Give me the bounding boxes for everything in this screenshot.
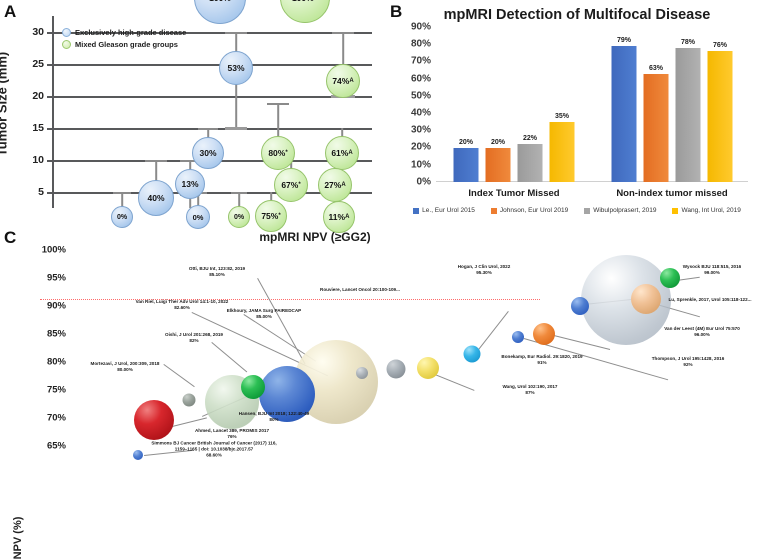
bubble-superscript: A xyxy=(349,78,353,84)
bubble-elkhoury xyxy=(387,360,406,379)
panel-a-tick xyxy=(47,32,53,34)
legend-swatch-green-icon xyxy=(62,40,71,49)
bar-nonindex-wibulpolprasert: 78% xyxy=(676,48,701,182)
study-value: 92% xyxy=(683,362,692,367)
legend-swatch-blue-icon xyxy=(62,28,71,37)
panel-a-bubble: 0% xyxy=(111,206,133,228)
panel-a-y-axis-title: Tumor Size (mm) xyxy=(0,52,10,157)
panel-b-group-label-index: Index Tumor Missed xyxy=(468,188,559,199)
panel-b-y-tick-label: 40% xyxy=(411,108,431,119)
panel-a-tick xyxy=(47,128,53,130)
bar-nonindex-le: 79% xyxy=(612,46,637,182)
panel-b-bar-chart: B mpMRI Detection of Multifocal Disease … xyxy=(386,0,768,226)
panel-c-letter: C xyxy=(4,228,16,248)
panel-a-letter: A xyxy=(4,2,16,22)
bubble-label: 11% xyxy=(329,212,346,222)
panel-a-whisker-cap xyxy=(198,128,218,130)
panel-b-baseline xyxy=(436,181,748,182)
panel-a-bubble: 53% xyxy=(219,51,253,85)
leader-line xyxy=(211,342,247,372)
legend-label: Exclusively high-grade disease xyxy=(75,28,186,37)
legend-label: Mixed Gleason grade groups xyxy=(75,40,178,49)
legend-swatch-icon xyxy=(584,208,590,214)
study-value: 80.00% xyxy=(117,367,133,372)
bubble-label: 30% xyxy=(199,148,216,158)
panel-a-bubble: 100% xyxy=(194,0,246,24)
study-name: Otti, BJU Int, 123:82, 2019 xyxy=(189,266,245,271)
study-value: 85.10% xyxy=(209,272,225,277)
panel-b-y-tick-label: 50% xyxy=(411,90,431,101)
label-oishi: Oishi, J Urol 201:268, 2019 82% xyxy=(139,332,249,344)
legend-item: Wang, Int Urol, 2019 xyxy=(672,207,740,214)
leader-line xyxy=(257,278,305,364)
panel-c-y-tick-label: 75% xyxy=(47,385,66,396)
bubble-label: 13% xyxy=(181,179,198,189)
panel-c-y-tick-label: 65% xyxy=(47,441,66,452)
bubble-wang-urol xyxy=(417,357,439,379)
study-name: Hogan, J Clin Urol, 2022 xyxy=(458,264,511,269)
panel-a-bubble: 30% xyxy=(192,137,224,169)
panel-a-legend: Exclusively high-grade disease Mixed Gle… xyxy=(62,28,186,52)
panel-c-y-tick-label: 80% xyxy=(47,357,66,368)
panel-a-tick xyxy=(47,160,53,162)
panel-a-bubble: 0% xyxy=(228,206,250,228)
label-otti: Otti, BJU Int, 123:82, 2019 85.10% xyxy=(152,266,282,278)
bar-nonindex-johnson: 63% xyxy=(644,74,669,182)
label-bonekamp: Bonekamp, Eur Radiol. 29:1820, 2019 91% xyxy=(484,354,600,366)
bubble-label: 80% xyxy=(268,148,285,158)
bubble-hogan xyxy=(571,297,589,315)
label-van-der-leest: Van der Leest (4M) Eur Urol 75:570 96.00… xyxy=(635,326,768,338)
bar-index-johnson: 20% xyxy=(486,148,511,182)
panel-a-gridline xyxy=(54,64,372,66)
panel-a-y-tick-label: 15 xyxy=(32,122,44,134)
panel-c-y-tick-label: 90% xyxy=(47,301,66,312)
panel-a-whisker-cap xyxy=(113,192,131,194)
panel-b-plot-area: 90% 80% 70% 60% 50% 40% 30% 20% 10% 0% 2… xyxy=(436,27,748,182)
panel-b-legend: Le., Eur Urol 2015 Johnson, Eur Urol 201… xyxy=(386,207,768,214)
panel-a-y-tick-label: 30 xyxy=(32,26,44,38)
study-name: Oishi, J Urol 201:268, 2019 xyxy=(165,332,223,337)
label-simmons: Simmons BJ Cancer British Journal of Can… xyxy=(147,441,281,460)
label-hansen: Hansen, BJU Int 2018; 122:40-49 80% xyxy=(216,411,332,423)
study-name: Elkhoury, JAMA Surg PAIREDCAP xyxy=(227,308,301,313)
panel-c-y-tick-label: 100% xyxy=(42,245,66,256)
label-elkhoury: Elkhoury, JAMA Surg PAIREDCAP 85.00% xyxy=(221,308,307,320)
legend-label: Johnson, Eur Urol 2019 xyxy=(500,207,568,214)
study-name: Rouviere, Lancet Oncol 20:100-109... xyxy=(320,287,400,292)
label-ahmed: Ahmed, Lancet 389, PROMIS 2017 76% xyxy=(171,428,293,440)
panel-b-y-tick-label: 60% xyxy=(411,73,431,84)
legend-label: Wang, Int Urol, 2019 xyxy=(681,207,740,214)
panel-b-chart-title: mpMRI Detection of Multifocal Disease xyxy=(386,7,768,23)
bubble-label: 74% xyxy=(332,76,349,86)
panel-b-y-tick-label: 30% xyxy=(411,125,431,136)
study-name: Lu, Sprenkle, 2017, Urol 105:118-122... xyxy=(669,297,752,302)
panel-a-whisker-cap xyxy=(267,103,289,105)
label-thompson: Thompson, J Urol 195:1428, 2016 92% xyxy=(626,356,750,368)
legend-item: Le., Eur Urol 2015 xyxy=(413,207,475,214)
panel-a-tick xyxy=(47,64,53,66)
bubble-oishi xyxy=(241,375,265,399)
panel-a-bubble: 61%A xyxy=(325,136,359,170)
bubble-superscript: * xyxy=(298,182,300,188)
panel-a-y-tick-label: 25 xyxy=(32,58,44,70)
study-value: 76% xyxy=(227,434,236,439)
bubble-label: 61% xyxy=(331,148,348,158)
bar-value-label: 20% xyxy=(459,139,473,146)
legend-swatch-icon xyxy=(491,208,497,214)
bubble-mortezavi xyxy=(183,394,196,407)
panel-c-plot-area: 100% 95% 90% 85% 80% 75% 70% 65% xyxy=(72,242,752,430)
bubble-simmons xyxy=(133,450,143,460)
panel-a-tumor-size-chart: A Tumor Size (mm) 30 25 20 15 10 5 xyxy=(0,0,385,222)
panel-b-group-label-nonindex: Non-index tumor missed xyxy=(616,188,727,199)
bubble-label: 27% xyxy=(324,180,341,190)
panel-a-bubble: 13% xyxy=(175,169,205,199)
label-wysock: Wysock BJU 118:515, 2016 99.00% xyxy=(656,264,768,276)
bubble-superscript: * xyxy=(285,150,287,156)
study-value: 99.00% xyxy=(704,270,720,275)
bubble-label: 0% xyxy=(117,214,127,221)
panel-a-whisker-cap xyxy=(225,127,247,130)
panel-c-y-axis-title: NPV (%) xyxy=(12,517,24,559)
study-value: 96.00% xyxy=(694,332,710,337)
study-name: Simmons BJ Cancer British Journal of Can… xyxy=(151,441,276,452)
bubble-superscript: A xyxy=(314,0,318,1)
legend-item: Mixed Gleason grade groups xyxy=(62,40,186,49)
legend-label: Le., Eur Urol 2015 xyxy=(422,207,475,214)
bar-value-label: 35% xyxy=(555,113,569,120)
panel-a-y-tick-label: 5 xyxy=(38,186,44,198)
study-value: 82% xyxy=(189,338,198,343)
panel-c-y-tick-label: 95% xyxy=(47,273,66,284)
panel-a-bubble: 67%* xyxy=(274,168,308,202)
panel-a-y-axis-line xyxy=(52,16,54,208)
bubble-bonekamp xyxy=(533,323,555,345)
bubble-label: 53% xyxy=(227,63,244,73)
panel-a-bubble: 74%A xyxy=(326,64,360,98)
label-mortezavi: Mortezavi, J Urol, 200:309, 2018 80.00% xyxy=(75,361,175,373)
leader-line xyxy=(476,311,509,353)
bar-value-label: 20% xyxy=(491,139,505,146)
panel-c-threshold-line xyxy=(40,299,540,300)
panel-a-bubble: 27%A xyxy=(318,168,352,202)
study-name: Van der Leest (4M) Eur Urol 75:570 xyxy=(664,326,740,331)
study-name: Mortezavi, J Urol, 200:309, 2018 xyxy=(91,361,160,366)
bubble-label: 0% xyxy=(193,213,204,222)
bubble-superscript: * xyxy=(278,213,280,219)
panel-a-y-tick-label: 10 xyxy=(32,154,44,166)
panel-a-tick xyxy=(47,96,53,98)
label-wang-urol: Wang, Urol 102:190, 2017 87% xyxy=(477,384,583,396)
study-name: Wang, Urol 102:190, 2017 xyxy=(503,384,558,389)
bar-index-wang: 35% xyxy=(550,122,575,182)
panel-c-npv-bubble-chart: C mpMRI NPV (≥GG2) NPV (%) 100% 95% 90% … xyxy=(0,226,768,442)
bar-index-wibulpolprasert: 22% xyxy=(518,144,543,182)
study-name: Ahmed, Lancet 389, PROMIS 2017 xyxy=(195,428,269,433)
bar-value-label: 79% xyxy=(617,37,631,44)
bar-value-label: 76% xyxy=(713,42,727,49)
bar-value-label: 78% xyxy=(681,39,695,46)
legend-swatch-icon xyxy=(672,208,678,214)
bubble-label: 100% xyxy=(292,0,314,3)
panel-a-gridline xyxy=(54,96,372,98)
study-name: Bonekamp, Eur Radiol. 29:1820, 2019 xyxy=(501,354,582,359)
legend-item: Wibulpolprasert, 2019 xyxy=(584,207,656,214)
panel-c-y-tick-label: 70% xyxy=(47,413,66,424)
bubble-ahmed xyxy=(134,400,174,440)
bar-nonindex-wang: 76% xyxy=(708,51,733,182)
study-name: Van Riel, Luigi Ther Adv Urol 14:1-10, 2… xyxy=(136,299,229,304)
label-rouviere: Rouviere, Lancet Oncol 20:100-109... xyxy=(305,287,415,293)
panel-b-y-tick-label: 0% xyxy=(417,177,431,188)
label-hogan: Hogan, J Clin Urol, 2022 95.30% xyxy=(429,264,539,276)
study-name: Wysock BJU 118:515, 2016 xyxy=(683,264,741,269)
legend-swatch-icon xyxy=(413,208,419,214)
study-value: 80% xyxy=(269,417,278,422)
bubble-thompson xyxy=(512,331,524,343)
panel-b-y-tick-label: 20% xyxy=(411,142,431,153)
bubble-superscript: A xyxy=(348,150,352,156)
bubble-otti xyxy=(356,367,368,379)
panel-c-y-tick-label: 85% xyxy=(47,329,66,340)
study-value: 91% xyxy=(537,360,546,365)
bubble-label: 0% xyxy=(234,214,244,221)
bar-value-label: 63% xyxy=(649,65,663,72)
panel-a-bubble: 40% xyxy=(138,180,174,216)
panel-a-y-tick-label: 20 xyxy=(32,90,44,102)
study-value: 87% xyxy=(525,390,534,395)
legend-item: Exclusively high-grade disease xyxy=(62,28,186,37)
legend-item: Johnson, Eur Urol 2019 xyxy=(491,207,568,214)
panel-a-bubble: 80%* xyxy=(261,136,295,170)
panel-b-y-tick-label: 80% xyxy=(411,39,431,50)
panel-a-whisker-cap xyxy=(145,160,167,162)
legend-label: Wibulpolprasert, 2019 xyxy=(593,207,656,214)
bubble-label: 40% xyxy=(147,193,164,203)
bubble-label: 75% xyxy=(261,211,278,221)
bubble-superscript: A xyxy=(341,182,345,188)
bubble-superscript: A xyxy=(345,214,349,220)
bar-index-le: 20% xyxy=(454,148,479,182)
study-name: Thompson, J Urol 195:1428, 2016 xyxy=(652,356,725,361)
study-value: 82.60% xyxy=(174,305,190,310)
panel-a-tick xyxy=(47,192,53,194)
study-name: Hansen, BJU Int 2018; 122:40-49 xyxy=(239,411,309,416)
panel-a-whisker-cap xyxy=(332,32,354,34)
panel-a-bubble: 100%A xyxy=(280,0,330,23)
bubble-rouviere xyxy=(464,346,481,363)
bubble-label: 67% xyxy=(281,180,298,190)
panel-b-y-tick-label: 70% xyxy=(411,56,431,67)
study-value: 95.30% xyxy=(476,270,492,275)
panel-b-y-tick-label: 10% xyxy=(411,159,431,170)
study-value: 68.60% xyxy=(206,453,222,458)
bar-value-label: 22% xyxy=(523,135,537,142)
panel-a-whisker-cap xyxy=(231,192,247,194)
bubble-label: 100% xyxy=(209,0,231,3)
study-value: 85.00% xyxy=(256,314,272,319)
panel-b-y-tick-label: 90% xyxy=(411,22,431,33)
panel-a-whisker-cap xyxy=(225,32,247,34)
label-lu-sprenkle: Lu, Sprenkle, 2017, Urol 105:118-122... xyxy=(651,297,768,303)
